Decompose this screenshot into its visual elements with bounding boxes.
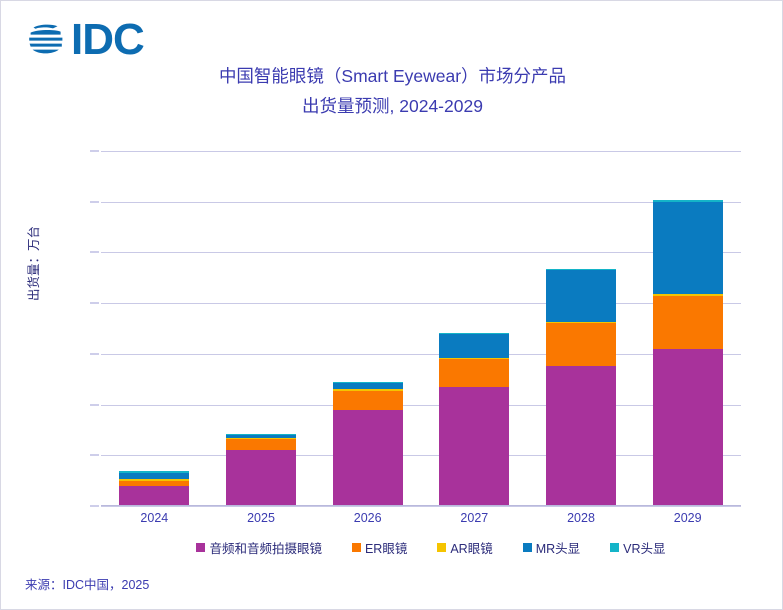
- bar-segment[interactable]: [653, 202, 723, 295]
- bar-segment[interactable]: [653, 296, 723, 349]
- bar-segment[interactable]: [226, 439, 296, 450]
- y-axis-tick-mark: [90, 252, 99, 253]
- legend-swatch-icon: [437, 543, 446, 552]
- y-axis-tick-mark: [90, 404, 99, 405]
- bar-segment[interactable]: [546, 366, 616, 506]
- bar-segment[interactable]: [333, 391, 403, 410]
- x-axis-line: [101, 505, 741, 506]
- y-axis-tick-mark: [90, 201, 99, 202]
- legend-swatch-icon: [523, 543, 532, 552]
- legend-swatch-icon: [610, 543, 619, 552]
- bar-segment[interactable]: [439, 359, 509, 386]
- chart-title: 中国智能眼镜（Smart Eyewear）市场分产品 出货量预测, 2024-2…: [1, 61, 783, 121]
- bar-stack: [333, 382, 403, 506]
- bar-stack: [653, 200, 723, 506]
- bar-segment[interactable]: [546, 323, 616, 366]
- bar-group-2027[interactable]: [439, 151, 509, 506]
- bar-segment[interactable]: [439, 334, 509, 358]
- legend-label: MR头显: [536, 538, 580, 557]
- legend-item-1[interactable]: 音频和音频拍摄眼镜: [196, 538, 322, 557]
- bar-stack: [226, 434, 296, 506]
- x-axis-labels: 202420252026202720282029: [101, 511, 741, 531]
- x-axis-label-2026: 2026: [354, 511, 382, 525]
- idc-logo-text: IDC: [71, 17, 144, 63]
- bar-segment[interactable]: [546, 270, 616, 322]
- legend-item-5[interactable]: VR头显: [610, 538, 665, 557]
- x-axis-label-2028: 2028: [567, 511, 595, 525]
- legend-item-4[interactable]: MR头显: [523, 538, 580, 557]
- bar-segment[interactable]: [226, 450, 296, 506]
- legend-item-3[interactable]: AR眼镜: [437, 538, 492, 557]
- legend-label: AR眼镜: [450, 538, 492, 557]
- chart-title-line-2: 出货量预测, 2024-2029: [1, 91, 783, 121]
- y-axis-tick-mark: [90, 353, 99, 354]
- bar-group-2026[interactable]: [333, 151, 403, 506]
- source-note: 来源：IDC中国，2025: [25, 574, 149, 593]
- legend-swatch-icon: [352, 543, 361, 552]
- bar-segment[interactable]: [439, 387, 509, 506]
- bar-segment[interactable]: [119, 486, 189, 506]
- bar-stack: [439, 333, 509, 506]
- chart-title-line-1: 中国智能眼镜（Smart Eyewear）市场分产品: [1, 61, 783, 91]
- y-axis-tick-mark: [90, 455, 99, 456]
- legend-label: ER眼镜: [365, 538, 407, 557]
- gridline: [101, 506, 741, 507]
- bar-stack: [546, 269, 616, 506]
- y-axis-title: 出货量：万台: [23, 226, 42, 301]
- legend-swatch-icon: [196, 543, 205, 552]
- y-axis-tick-mark: [90, 151, 99, 152]
- legend-item-2[interactable]: ER眼镜: [352, 538, 407, 557]
- y-axis-tick-mark: [90, 506, 99, 507]
- x-axis-label-2029: 2029: [674, 511, 702, 525]
- idc-logo: IDC: [23, 17, 144, 63]
- bar-stack: [119, 471, 189, 506]
- x-axis-label-2027: 2027: [460, 511, 488, 525]
- y-axis-tick-mark: [90, 303, 99, 304]
- x-axis-label-2024: 2024: [140, 511, 168, 525]
- bar-group-2025[interactable]: [226, 151, 296, 506]
- bar-segment[interactable]: [653, 349, 723, 506]
- chart-legend: 音频和音频拍摄眼镜ER眼镜AR眼镜MR头显VR头显: [101, 538, 761, 557]
- bar-segment[interactable]: [333, 410, 403, 506]
- bar-group-2024[interactable]: [119, 151, 189, 506]
- idc-globe-icon: [23, 17, 69, 63]
- chart-page: IDC 中国智能眼镜（Smart Eyewear）市场分产品 出货量预测, 20…: [0, 0, 783, 610]
- bar-series-container: [101, 151, 741, 506]
- bar-group-2028[interactable]: [546, 151, 616, 506]
- bar-group-2029[interactable]: [653, 151, 723, 506]
- x-axis-label-2025: 2025: [247, 511, 275, 525]
- legend-label: VR头显: [623, 538, 665, 557]
- plot-area: 02004006008001,0001,2001,400: [101, 151, 741, 506]
- legend-label: 音频和音频拍摄眼镜: [209, 538, 322, 557]
